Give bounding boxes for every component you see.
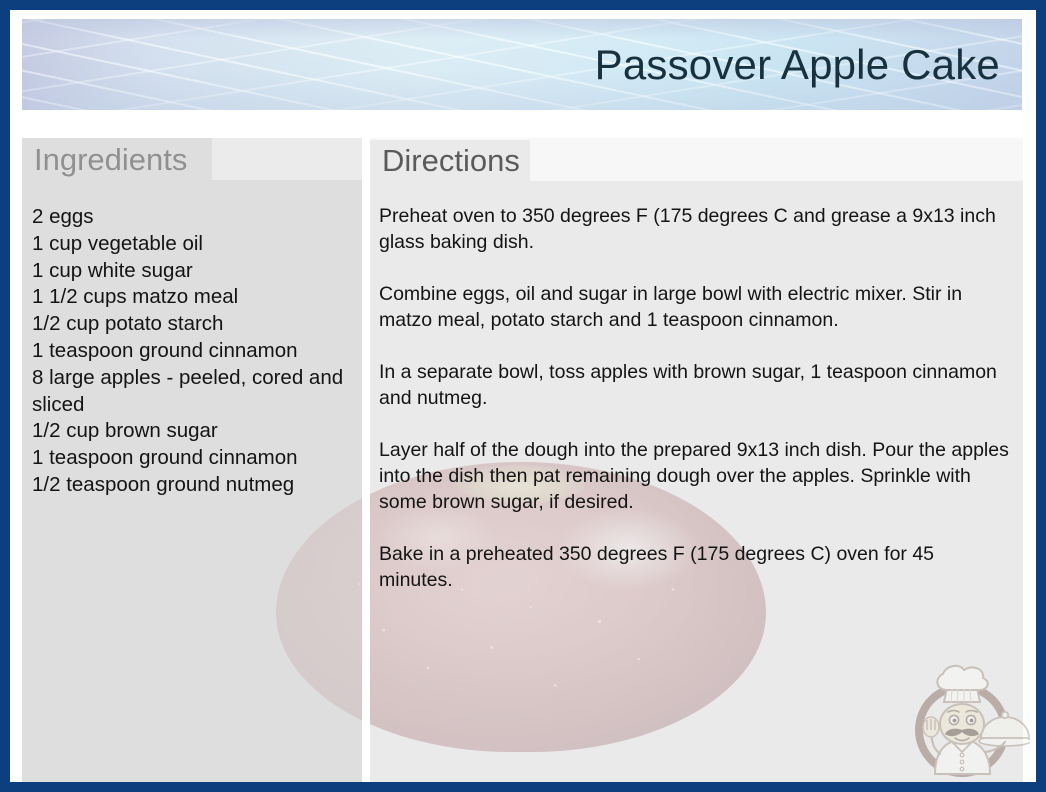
directions-panel: Directions Preheat oven to 350 degrees F… [370, 140, 1023, 782]
ingredient-item: 1 cup vegetable oil [32, 231, 354, 258]
directions-body: Preheat oven to 350 degrees F (175 degre… [370, 181, 1023, 782]
slide-root: Passover Apple Cake Ingredients 2 eggs1 … [0, 0, 1046, 792]
directions-tab: Directions [370, 140, 530, 181]
ingredient-item: 1 teaspoon ground cinnamon [32, 445, 354, 472]
ingredient-item: 1/2 teaspoon ground nutmeg [32, 472, 354, 499]
direction-step: Layer half of the dough into the prepare… [379, 437, 1009, 515]
ingredients-heading: Ingredients [34, 144, 187, 175]
ingredient-item: 2 eggs [32, 204, 354, 231]
ingredients-tab: Ingredients [22, 138, 212, 180]
direction-step: Bake in a preheated 350 degrees F (175 d… [379, 541, 1009, 593]
column-gutter [362, 138, 370, 782]
ingredients-list: 2 eggs1 cup vegetable oil1 cup white sug… [32, 204, 354, 499]
ingredient-item: 1 cup white sugar [32, 258, 354, 285]
directions-heading: Directions [382, 145, 520, 176]
directions-steps-list: Preheat oven to 350 degrees F (175 degre… [379, 203, 1009, 593]
direction-step: Combine eggs, oil and sugar in large bow… [379, 281, 1009, 333]
page-title: Passover Apple Cake [595, 42, 1000, 86]
slide-canvas: Passover Apple Cake Ingredients 2 eggs1 … [10, 10, 1036, 782]
ingredient-item: 1/2 cup potato starch [32, 311, 354, 338]
title-banner: Passover Apple Cake [22, 19, 1022, 110]
ingredient-item: 1 1/2 cups matzo meal [32, 284, 354, 311]
ingredient-item: 1 teaspoon ground cinnamon [32, 338, 354, 365]
direction-step: Preheat oven to 350 degrees F (175 degre… [379, 203, 1009, 255]
ingredient-item: 1/2 cup brown sugar [32, 418, 354, 445]
direction-step: In a separate bowl, toss apples with bro… [379, 359, 1009, 411]
ingredient-item: 8 large apples - peeled, cored and slice… [32, 365, 354, 419]
ingredients-body: 2 eggs1 cup vegetable oil1 cup white sug… [22, 180, 362, 782]
ingredients-panel: Ingredients 2 eggs1 cup vegetable oil1 c… [22, 138, 362, 782]
